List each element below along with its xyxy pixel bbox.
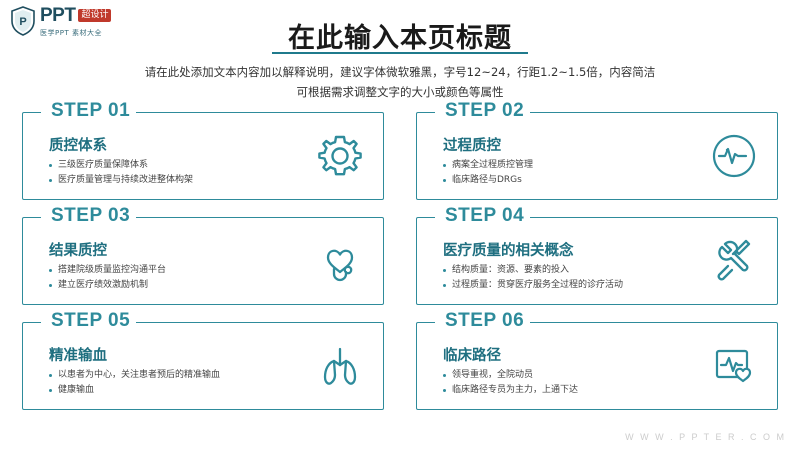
card-heading: 医疗质量的相关概念 — [443, 239, 574, 260]
list-item: 建立医疗绩效激励机制 — [49, 278, 299, 293]
card-bullets: 结构质量：资源、要素的投入 过程质量：贯穿医疗服务全过程的诊疗活动 — [443, 263, 693, 293]
list-item: 健康输血 — [49, 383, 299, 398]
step-label: STEP 05 — [45, 310, 136, 332]
heart-stethoscope-icon — [311, 232, 369, 290]
step-label: STEP 01 — [45, 100, 136, 122]
step-card-01[interactable]: STEP 01 质控体系 三级医疗质量保障体系 医疗质量管理与持续改进整体构架 — [22, 112, 384, 200]
card-heading: 质控体系 — [49, 134, 107, 155]
step-label: STEP 03 — [45, 205, 136, 227]
step-label: STEP 02 — [439, 100, 530, 122]
steps-grid: STEP 01 质控体系 三级医疗质量保障体系 医疗质量管理与持续改进整体构架 … — [22, 112, 778, 427]
steps-row: STEP 01 质控体系 三级医疗质量保障体系 医疗质量管理与持续改进整体构架 … — [22, 112, 778, 200]
page-subtitle-line2: 可根据需求调整文字的大小或颜色等属性 — [0, 82, 800, 102]
step-label: STEP 04 — [439, 205, 530, 227]
list-item: 过程质量：贯穿医疗服务全过程的诊疗活动 — [443, 278, 693, 293]
wrench-screwdriver-icon — [705, 232, 763, 290]
gear-icon — [311, 127, 369, 185]
step-card-05[interactable]: STEP 05 精准输血 以患者为中心，关注患者预后的精准输血 健康输血 — [22, 322, 384, 410]
card-bullets: 三级医疗质量保障体系 医疗质量管理与持续改进整体构架 — [49, 158, 299, 188]
list-item: 搭建院级质量监控沟通平台 — [49, 263, 299, 278]
list-item: 病案全过程质控管理 — [443, 158, 693, 173]
step-card-06[interactable]: STEP 06 临床路径 领导重视，全院动员 临床路径专员为主力，上通下达 — [416, 322, 778, 410]
card-bullets: 以患者为中心，关注患者预后的精准输血 健康输血 — [49, 368, 299, 398]
step-card-02[interactable]: STEP 02 过程质控 病案全过程质控管理 临床路径与DRGs — [416, 112, 778, 200]
list-item: 以患者为中心，关注患者预后的精准输血 — [49, 368, 299, 383]
list-item: 医疗质量管理与持续改进整体构架 — [49, 173, 299, 188]
ecg-circle-icon — [705, 127, 763, 185]
card-heading: 结果质控 — [49, 239, 107, 260]
list-item: 临床路径专员为主力，上通下达 — [443, 383, 693, 398]
lungs-icon — [311, 337, 369, 395]
card-heading: 精准输血 — [49, 344, 107, 365]
list-item: 三级医疗质量保障体系 — [49, 158, 299, 173]
step-card-04[interactable]: STEP 04 医疗质量的相关概念 结构质量：资源、要素的投入 过程质量：贯穿医… — [416, 217, 778, 305]
page-title: 在此输入本页标题 — [0, 16, 800, 55]
list-item: 结构质量：资源、要素的投入 — [443, 263, 693, 278]
card-bullets: 搭建院级质量监控沟通平台 建立医疗绩效激励机制 — [49, 263, 299, 293]
page-subtitle: 请在此处添加文本内容加以解释说明，建议字体微软雅黑，字号12~24，行距1.2~… — [0, 62, 800, 102]
card-bullets: 领导重视，全院动员 临床路径专员为主力，上通下达 — [443, 368, 693, 398]
page-subtitle-line1: 请在此处添加文本内容加以解释说明，建议字体微软雅黑，字号12~24，行距1.2~… — [0, 62, 800, 82]
list-item: 领导重视，全院动员 — [443, 368, 693, 383]
steps-row: STEP 05 精准输血 以患者为中心，关注患者预后的精准输血 健康输血 — [22, 322, 778, 410]
step-label: STEP 06 — [439, 310, 530, 332]
ecg-heart-monitor-icon — [705, 337, 763, 395]
card-heading: 过程质控 — [443, 134, 501, 155]
card-bullets: 病案全过程质控管理 临床路径与DRGs — [443, 158, 693, 188]
card-heading: 临床路径 — [443, 344, 501, 365]
list-item: 临床路径与DRGs — [443, 173, 693, 188]
step-card-03[interactable]: STEP 03 结果质控 搭建院级质量监控沟通平台 建立医疗绩效激励机制 — [22, 217, 384, 305]
title-underline — [272, 52, 528, 54]
watermark: W W W . P P T E R . C O M — [625, 432, 786, 442]
steps-row: STEP 03 结果质控 搭建院级质量监控沟通平台 建立医疗绩效激励机制 STE… — [22, 217, 778, 305]
